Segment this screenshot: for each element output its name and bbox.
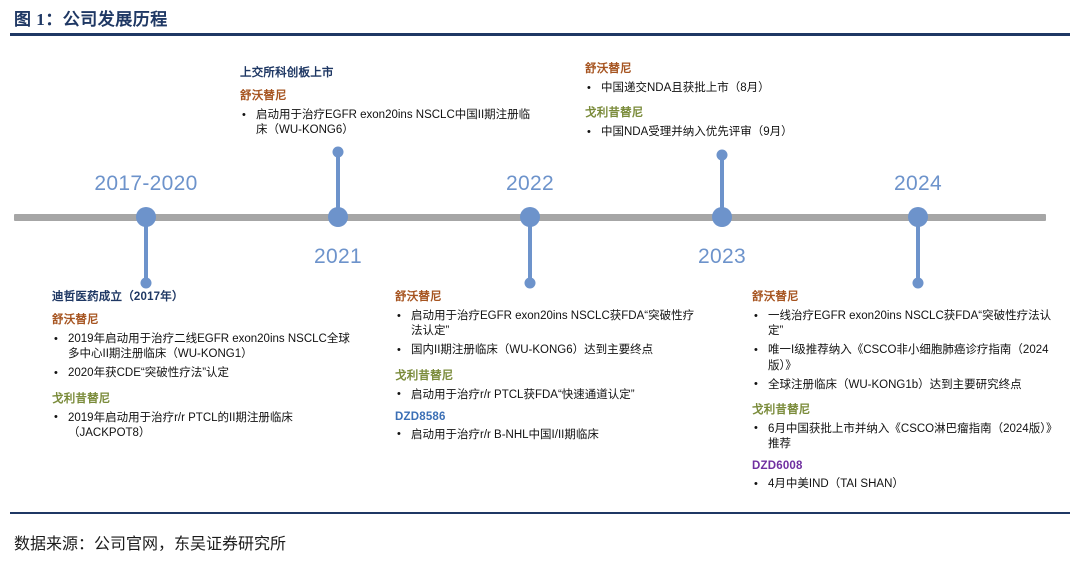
drug-heading-suwowatinib: 舒沃替尼 bbox=[395, 288, 695, 304]
list-item: 启动用于治疗EGFR exon20ins NSCLC中国II期注册临床（WU-K… bbox=[240, 108, 540, 138]
drug-heading-suwowatinib: 舒沃替尼 bbox=[752, 288, 1052, 304]
list-item: 启动用于治疗r/r PTCL获FDA“快速通道认定” bbox=[395, 388, 695, 403]
list-item: 国内II期注册临床（WU-KONG6）达到主要终点 bbox=[395, 343, 695, 358]
year-label-2021: 2021 bbox=[314, 245, 362, 269]
bullet-list: 中国递交NDA且获批上市（8月） bbox=[585, 81, 875, 96]
list-item: 中国NDA受理并纳入优先评审（9月） bbox=[585, 125, 875, 140]
header-divider bbox=[10, 33, 1070, 36]
event-block-2021: 上交所科创板上市 舒沃替尼 启动用于治疗EGFR exon20ins NSCLC… bbox=[240, 64, 540, 146]
bullet-list: 2019年启动用于治疗二线EGFR exon20ins NSCLC全球多中心II… bbox=[52, 332, 357, 382]
bullet-list: 2019年启动用于治疗r/r PTCL的II期注册临床（JACKPOT8） bbox=[52, 411, 357, 441]
bullet-list: 启动用于治疗r/r PTCL获FDA“快速通道认定” bbox=[395, 388, 695, 403]
drug-heading-golidocitinib: 戈利昔替尼 bbox=[52, 390, 357, 406]
timeline-stem-cap-2024 bbox=[913, 278, 924, 289]
list-item: 全球注册临床（WU-KONG1b）达到主要研究终点 bbox=[752, 378, 1052, 393]
bullet-list: 6月中国获批上市并纳入《CSCO淋巴瘤指南（2024版）》推荐 bbox=[752, 422, 1052, 452]
bullet-list: 中国NDA受理并纳入优先评审（9月） bbox=[585, 125, 875, 140]
bullet-list: 一线治疗EGFR exon20ins NSCLC获FDA“突破性疗法认定” 唯一… bbox=[752, 309, 1052, 393]
drug-heading-dzd8586: DZD8586 bbox=[395, 411, 695, 423]
footer-divider bbox=[10, 512, 1070, 514]
timeline-node-2021[interactable] bbox=[328, 207, 348, 227]
year-label-2017-2020: 2017-2020 bbox=[94, 172, 197, 196]
event-block-title: 迪哲医药成立（2017年） bbox=[52, 288, 357, 304]
list-item: 2019年启动用于治疗r/r PTCL的II期注册临床（JACKPOT8） bbox=[52, 411, 357, 441]
timeline-node-2022[interactable] bbox=[520, 207, 540, 227]
event-block-title: 上交所科创板上市 bbox=[240, 64, 540, 80]
event-block-2017-2020: 迪哲医药成立（2017年） 舒沃替尼 2019年启动用于治疗二线EGFR exo… bbox=[52, 288, 357, 449]
list-item: 启动用于治疗EGFR exon20ins NSCLC获FDA“突破性疗法认定” bbox=[395, 309, 695, 339]
drug-heading-golidocitinib: 戈利昔替尼 bbox=[585, 104, 875, 120]
bullet-list: 启动用于治疗EGFR exon20ins NSCLC获FDA“突破性疗法认定” … bbox=[395, 309, 695, 359]
list-item: 4月中美IND（TAI SHAN） bbox=[752, 477, 1052, 492]
timeline-node-2023[interactable] bbox=[712, 207, 732, 227]
drug-heading-golidocitinib: 戈利昔替尼 bbox=[395, 367, 695, 383]
bullet-list: 启动用于治疗EGFR exon20ins NSCLC中国II期注册临床（WU-K… bbox=[240, 108, 540, 138]
source-note: 数据来源：公司官网，东吴证券研究所 bbox=[14, 530, 286, 554]
drug-heading-dzd6008: DZD6008 bbox=[752, 460, 1052, 472]
list-item: 6月中国获批上市并纳入《CSCO淋巴瘤指南（2024版）》推荐 bbox=[752, 422, 1052, 452]
timeline-stem-cap-2017-2020 bbox=[141, 278, 152, 289]
drug-heading-golidocitinib: 戈利昔替尼 bbox=[752, 401, 1052, 417]
event-block-2022: 舒沃替尼 启动用于治疗EGFR exon20ins NSCLC获FDA“突破性疗… bbox=[395, 288, 695, 451]
timeline-stem-cap-2022 bbox=[525, 278, 536, 289]
drug-heading-suwowatinib: 舒沃替尼 bbox=[585, 60, 875, 76]
timeline-stem-cap-2021 bbox=[333, 147, 344, 158]
year-label-2024: 2024 bbox=[894, 172, 942, 196]
drug-heading-suwowatinib: 舒沃替尼 bbox=[240, 87, 540, 103]
list-item: 中国递交NDA且获批上市（8月） bbox=[585, 81, 875, 96]
timeline-node-2017-2020[interactable] bbox=[136, 207, 156, 227]
list-item: 启动用于治疗r/r B-NHL中国I/II期临床 bbox=[395, 428, 695, 443]
figure-title: 图 1：公司发展历程 bbox=[14, 5, 168, 30]
year-label-2023: 2023 bbox=[698, 245, 746, 269]
drug-heading-suwowatinib: 舒沃替尼 bbox=[52, 311, 357, 327]
bullet-list: 4月中美IND（TAI SHAN） bbox=[752, 477, 1052, 492]
event-block-2023: 舒沃替尼 中国递交NDA且获批上市（8月） 戈利昔替尼 中国NDA受理并纳入优先… bbox=[585, 60, 875, 148]
event-block-2024: 舒沃替尼 一线治疗EGFR exon20ins NSCLC获FDA“突破性疗法认… bbox=[752, 288, 1052, 500]
list-item: 一线治疗EGFR exon20ins NSCLC获FDA“突破性疗法认定” bbox=[752, 309, 1052, 339]
list-item: 2020年获CDE“突破性疗法”认定 bbox=[52, 366, 357, 381]
year-label-2022: 2022 bbox=[506, 172, 554, 196]
bullet-list: 启动用于治疗r/r B-NHL中国I/II期临床 bbox=[395, 428, 695, 443]
list-item: 唯一I级推荐纳入《CSCO非小细胞肺癌诊疗指南（2024版）》 bbox=[752, 343, 1052, 373]
list-item: 2019年启动用于治疗二线EGFR exon20ins NSCLC全球多中心II… bbox=[52, 332, 357, 362]
timeline-stem-cap-2023 bbox=[717, 150, 728, 161]
timeline-node-2024[interactable] bbox=[908, 207, 928, 227]
